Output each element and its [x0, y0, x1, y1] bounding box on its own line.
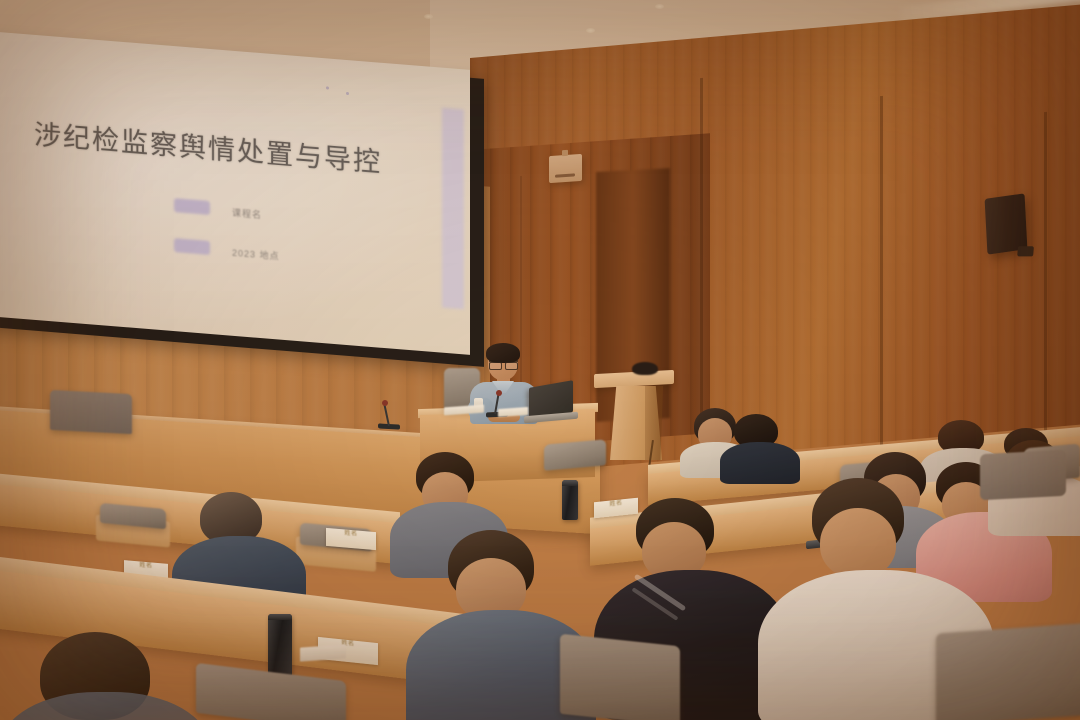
- placard-text: 姓名: [124, 560, 168, 573]
- person-shoulders: [0, 692, 210, 720]
- thermos-bottle: [268, 614, 292, 676]
- wall-seam: [1044, 112, 1047, 442]
- slide-label-chip: [174, 238, 210, 255]
- wall-seam: [700, 78, 703, 468]
- slide-dot-icon: [326, 86, 329, 89]
- empty-chair: [980, 450, 1066, 501]
- person-shoulders: [720, 442, 800, 484]
- microphone-head-icon: [382, 400, 388, 406]
- lectern-object: [632, 362, 658, 375]
- seat-back: [936, 622, 1080, 720]
- thermos-bottle: [562, 480, 578, 520]
- slide-meta-value-1: 课程名: [232, 206, 262, 221]
- microphone-head-icon: [496, 390, 502, 396]
- slide-accent-bar: [442, 108, 464, 310]
- glasses-icon: [489, 360, 518, 368]
- seat-back: [196, 663, 346, 720]
- screen-glare: [0, 30, 470, 355]
- empty-chair: [50, 390, 132, 434]
- lectern-shadow: [645, 386, 663, 460]
- wall-seam: [880, 96, 883, 456]
- seat-back: [544, 439, 606, 470]
- person-head: [820, 508, 896, 578]
- slide-dot-icon: [346, 92, 349, 95]
- wall-speaker-icon: [985, 193, 1028, 254]
- slide-label-chip: [174, 198, 210, 215]
- projection-screen: 涉纪检监察舆情处置与导控 课程名 2023 地点: [0, 30, 470, 355]
- wall-speaker-icon: [549, 154, 582, 183]
- seat-back: [560, 634, 680, 720]
- photo-scene: 涉纪检监察舆情处置与导控 课程名 2023 地点: [0, 0, 1080, 720]
